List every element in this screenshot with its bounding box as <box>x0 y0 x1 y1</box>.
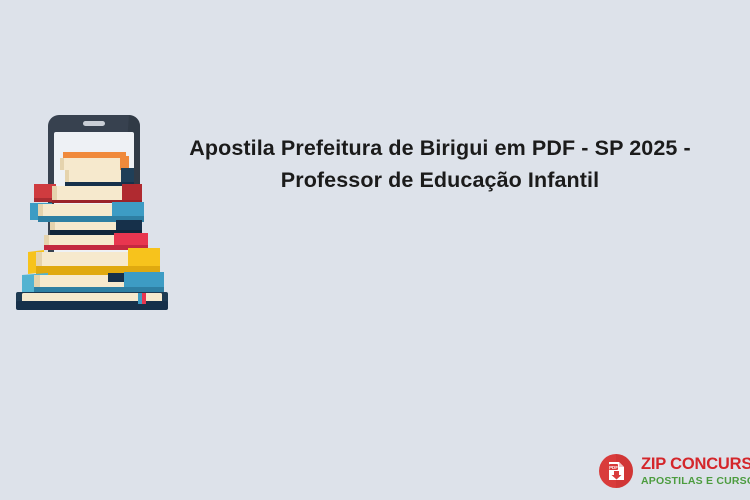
books-tablet-icon <box>8 112 178 322</box>
brand-wordmark: ZIP CONCURSOS APOSTILAS E CURSOS <box>641 456 750 486</box>
brand-secondary-text: APOSTILAS E CURSOS <box>641 476 750 487</box>
page-title: Apostila Prefeitura de Birigui em PDF - … <box>160 132 720 196</box>
brand-primary-text: ZIP CONCURSOS <box>641 456 750 473</box>
brand-logo[interactable]: PDF ZIP CONCURSOS APOSTILAS E CURSOS <box>598 451 744 491</box>
pdf-circle-icon: PDF <box>598 453 634 489</box>
page-title-text: Apostila Prefeitura de Birigui em PDF - … <box>160 132 720 196</box>
books-tablet-illustration <box>8 112 178 322</box>
promo-banner: Apostila Prefeitura de Birigui em PDF - … <box>0 0 750 500</box>
svg-text:PDF: PDF <box>609 465 618 470</box>
pdf-download-badge-icon: PDF <box>598 453 634 489</box>
